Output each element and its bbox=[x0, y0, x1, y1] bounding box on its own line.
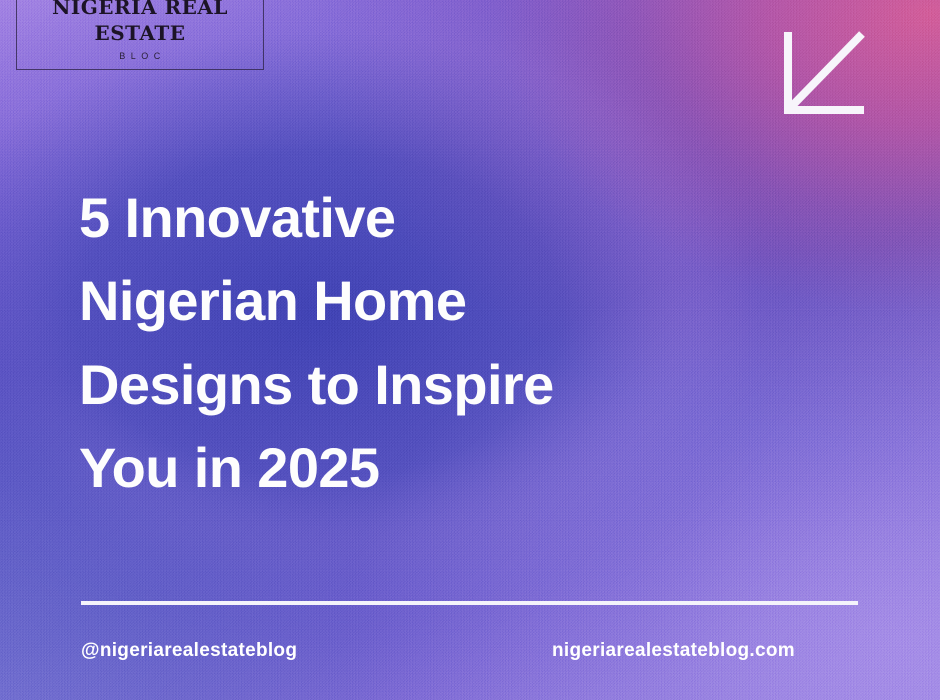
footer-divider bbox=[81, 601, 858, 605]
arrow-down-left-icon bbox=[784, 30, 868, 114]
logo-line-primary: NIGERIA REAL bbox=[52, 0, 228, 17]
social-handle[interactable]: @nigeriarealestateblog bbox=[81, 640, 297, 662]
logo-line-secondary: ESTATE bbox=[94, 23, 185, 43]
headline-line-1: 5 Innovative bbox=[79, 176, 879, 259]
brand-logo[interactable]: NIGERIA REAL ESTATE BLOC bbox=[16, 0, 264, 70]
logo-subtitle: BLOC bbox=[119, 52, 166, 61]
headline-line-2: Nigerian Home bbox=[79, 259, 879, 342]
page-title: 5 Innovative Nigerian Home Designs to In… bbox=[79, 176, 879, 510]
headline-line-4: You in 2025 bbox=[79, 426, 879, 509]
headline-line-3: Designs to Inspire bbox=[79, 343, 879, 426]
social-post-canvas: NIGERIA REAL ESTATE BLOC 5 Innovative Ni… bbox=[0, 0, 940, 700]
website-url[interactable]: nigeriarealestateblog.com bbox=[552, 640, 795, 662]
